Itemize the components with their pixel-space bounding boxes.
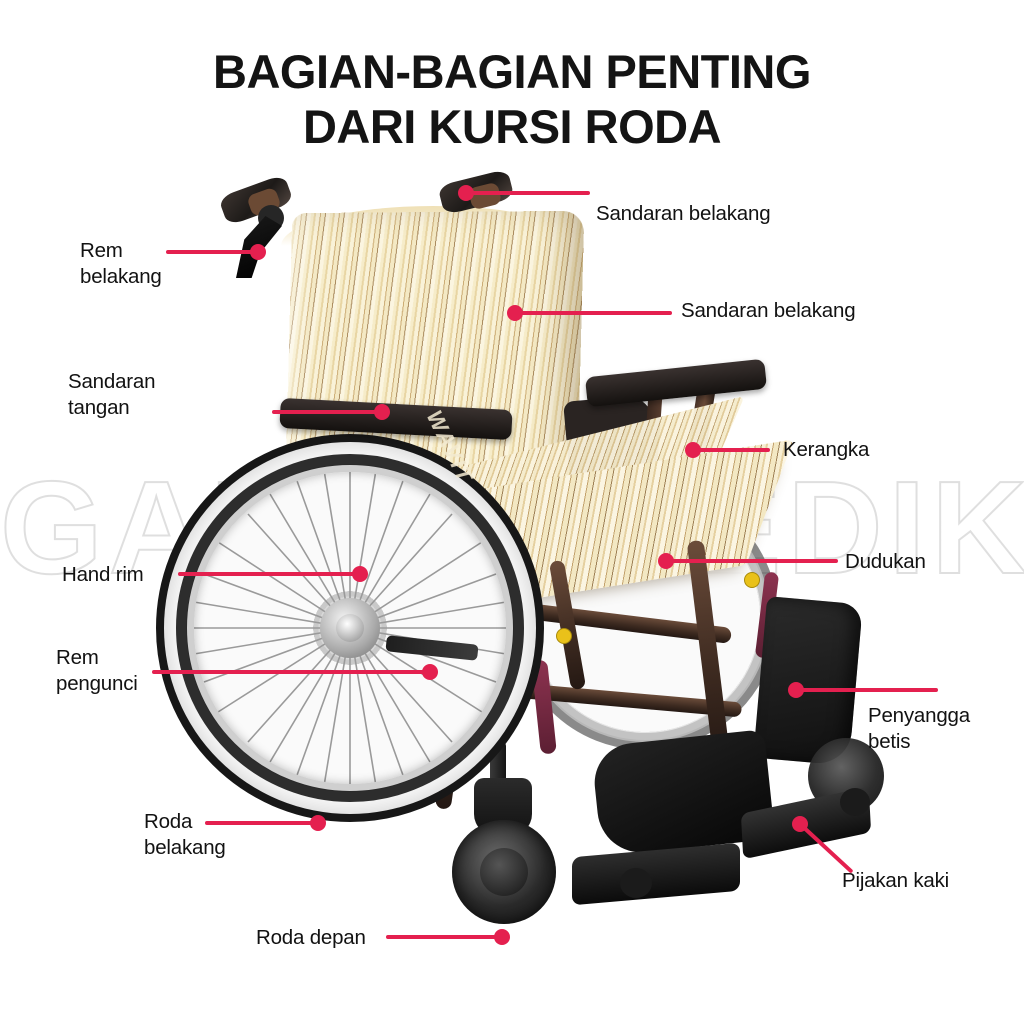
callout-dot-rem-belakang — [250, 244, 266, 260]
callout-dot-penyangga-betis — [788, 682, 804, 698]
callout-dot-dudukan — [658, 553, 674, 569]
callout-dot-pijakan-kaki — [792, 816, 808, 832]
callout-dot-rem-pengunci — [422, 664, 438, 680]
callout-line-sandaran-belakang-backrest — [515, 311, 672, 315]
callout-line-rem-belakang — [166, 250, 258, 254]
callout-label-roda-depan: Roda depan — [256, 925, 366, 951]
callout-label-kerangka: Kerangka — [783, 437, 869, 463]
callout-dot-sandaran-belakang-backrest — [507, 305, 523, 321]
footplate-knob-left — [620, 868, 652, 898]
callout-line-sandaran-belakang-handle — [466, 191, 590, 195]
callout-line-sandaran-tangan — [272, 410, 382, 414]
callout-dot-kerangka — [685, 442, 701, 458]
callout-label-penyangga-betis: Penyangga betis — [868, 703, 970, 755]
callout-label-sandaran-belakang-backrest: Sandaran belakang — [681, 298, 855, 324]
callout-line-kerangka — [693, 448, 770, 452]
front-caster-hub — [480, 848, 528, 896]
callout-dot-roda-belakang — [310, 815, 326, 831]
callout-label-dudukan: Dudukan — [845, 549, 926, 575]
rear-wheel-hubcap — [336, 614, 364, 642]
callout-line-dudukan — [666, 559, 838, 563]
callout-line-penyangga-betis — [796, 688, 938, 692]
callout-dot-sandaran-tangan — [374, 404, 390, 420]
callout-label-rem-pengunci: Rem pengunci — [56, 645, 138, 697]
frame-badge-3 — [556, 628, 572, 644]
callout-label-roda-belakang: Roda belakang — [144, 809, 226, 861]
callout-dot-sandaran-belakang-handle — [458, 185, 474, 201]
callout-label-rem-belakang: Rem belakang — [80, 238, 162, 290]
callout-label-hand-rim: Hand rim — [62, 562, 144, 588]
callout-line-roda-depan — [386, 935, 502, 939]
frame-badge-2 — [744, 572, 760, 588]
footplate-knob-right — [840, 788, 870, 816]
callout-line-hand-rim — [178, 572, 360, 576]
diagram-canvas: BAGIAN-BAGIAN PENTING DARI KURSI RODA GA… — [0, 0, 1024, 1024]
callout-label-pijakan-kaki: Pijakan kaki — [842, 868, 949, 894]
callout-label-sandaran-belakang-handle: Sandaran belakang — [596, 201, 770, 227]
footplate-left — [572, 843, 740, 906]
callout-line-rem-pengunci — [152, 670, 430, 674]
callout-dot-roda-depan — [494, 929, 510, 945]
callout-dot-hand-rim — [352, 566, 368, 582]
callout-label-sandaran-tangan: Sandaran tangan — [68, 369, 155, 421]
